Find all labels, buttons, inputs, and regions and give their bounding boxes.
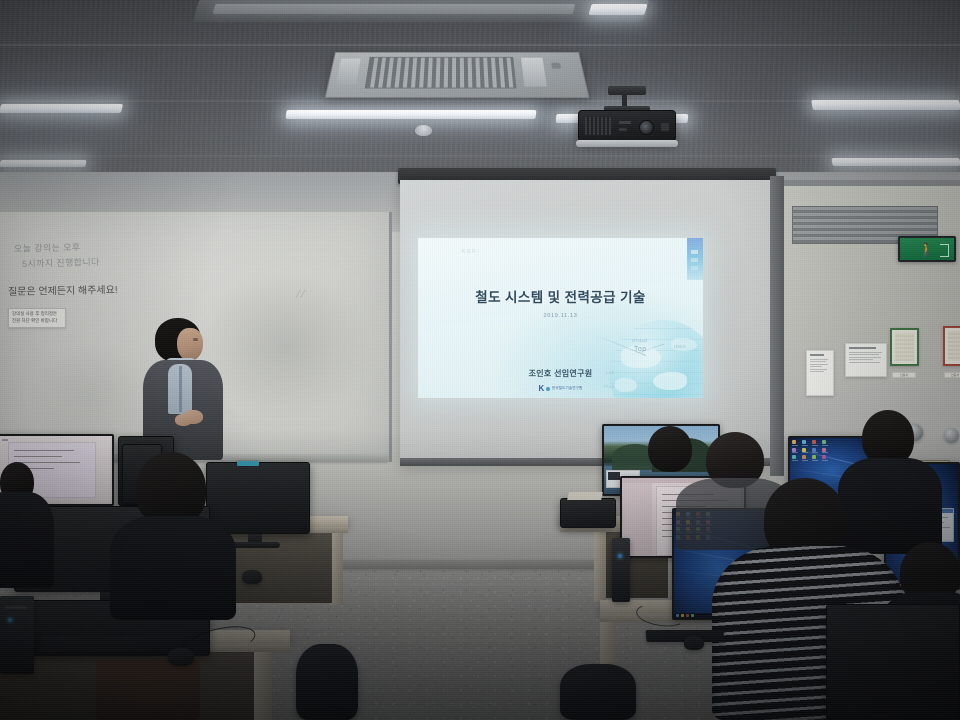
ceiling-light (588, 4, 647, 15)
presenter-shirt-placket (179, 366, 182, 412)
paper-stack (567, 492, 603, 500)
presenter-hand (175, 414, 192, 426)
ceiling-air-conditioner (325, 52, 590, 98)
projector-mount (608, 86, 646, 95)
detector-wire (422, 136, 423, 154)
student-mid-head (648, 426, 692, 472)
desk-leg (254, 652, 272, 720)
whiteboard-label-line-2: 전원 차단 확인 바랍니다 (12, 318, 62, 325)
running-person-icon: 🚶 (919, 243, 935, 256)
projector (578, 110, 676, 142)
logo-text: 한국철도기술연구원 (552, 386, 583, 391)
ceiling-light (811, 100, 960, 110)
map-label-top: Top (634, 346, 647, 353)
slide-logo: K 한국철도기술연구원 (418, 384, 703, 393)
mouse[interactable] (684, 636, 704, 650)
student-left-2-head (136, 452, 206, 524)
ceiling-light (285, 110, 536, 119)
wall-notice-large (845, 343, 887, 377)
pc-tower[interactable] (612, 538, 630, 602)
monitor-back-front-right[interactable] (826, 604, 960, 720)
smoke-detector (415, 125, 432, 136)
power-led (8, 618, 12, 622)
ceiling-light (213, 4, 576, 14)
exit-door-icon (940, 244, 949, 257)
student-left-2-body (110, 516, 236, 620)
door-frame[interactable] (770, 176, 784, 476)
ceiling-seam (0, 155, 960, 157)
ceiling-seam (0, 44, 960, 46)
slide-date: 2019.11.13 (418, 313, 703, 319)
projector-base-plate (576, 140, 678, 147)
lecture-room-photo: 오늘 강의는 오후 5시까지 진행합니다 질문은 언제든지 해주세요! 강의실 … (0, 0, 960, 720)
backpack (296, 644, 358, 720)
whiteboard-ink-line-2: 5시까지 진행합니다 (22, 256, 100, 272)
map-label-global: Global (632, 338, 647, 343)
slide-corner-accent (687, 238, 703, 280)
slide-title: 철도 시스템 및 전력공급 기술 (418, 286, 703, 306)
monitor-back[interactable] (560, 498, 616, 528)
logo-dot-icon (546, 387, 550, 391)
wall-certificate-green (890, 328, 919, 366)
map-label-idea: IDEA (674, 344, 686, 349)
projected-slide: KRRI Global Top IDEA Lab Plan 철도 시스템 및 전… (418, 238, 703, 398)
floor-seam (340, 640, 598, 641)
presenter-face (177, 328, 203, 361)
desk-leg (594, 532, 606, 602)
logo-mark: K (539, 384, 544, 393)
baseboard (330, 560, 600, 569)
door-knob[interactable] (944, 428, 959, 443)
power-led (618, 554, 622, 558)
backpack (560, 664, 636, 720)
floor-seam (352, 584, 588, 585)
door-header (784, 180, 960, 186)
certificate-caption-red: 인증서 (944, 372, 960, 378)
wall-certificate-red (943, 326, 960, 366)
student-left-1-body (0, 492, 54, 588)
monitor-back[interactable] (206, 462, 310, 534)
cable-tie (237, 461, 259, 466)
emergency-exit-sign: 🚶 (898, 236, 956, 262)
slide-author: 조인호 선임연구원 (418, 368, 703, 379)
slide-header-tag: KRRI (462, 249, 480, 255)
mouse[interactable] (242, 570, 262, 584)
monitor-base (232, 542, 280, 548)
ceiling-light (0, 104, 123, 113)
pc-tower[interactable] (0, 596, 34, 674)
floor-seam (548, 570, 549, 720)
whiteboard-ink-line-1: 오늘 강의는 오후 (14, 241, 81, 256)
ceiling-light (0, 160, 87, 167)
chair[interactable] (96, 660, 200, 720)
whiteboard-label-line-1: 강의실 사용 후 정리정돈 (12, 311, 62, 318)
keyboard[interactable] (39, 636, 183, 652)
wall-notice-small (806, 350, 834, 396)
certificate-caption-green: 인증서 (892, 372, 916, 378)
whiteboard-label: 강의실 사용 후 정리정돈 전원 차단 확인 바랍니다 (8, 308, 66, 328)
presenter-eye (193, 338, 198, 341)
student-right-1-body (838, 458, 942, 554)
ceiling-light (831, 158, 960, 166)
whiteboard-ink-line-3: 질문은 언제든지 해주세요! (8, 281, 118, 298)
